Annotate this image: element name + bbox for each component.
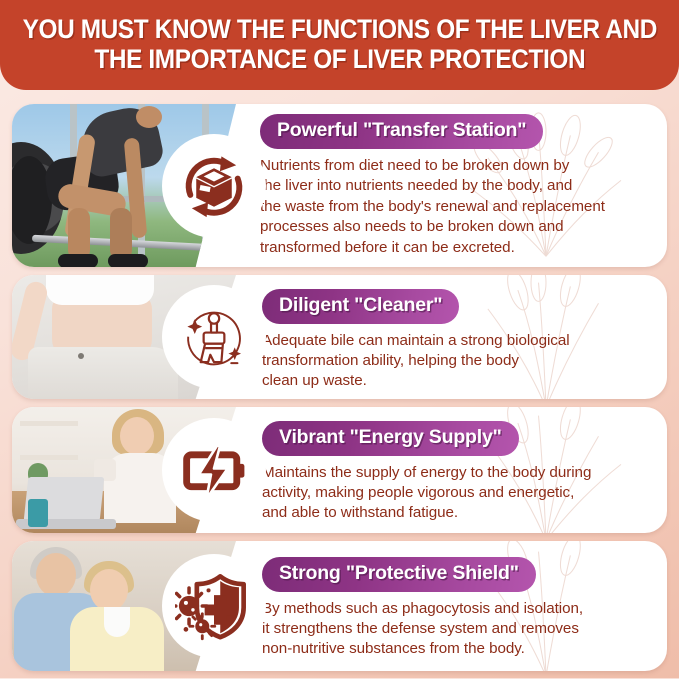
card-content: Diligent "Cleaner" Adequate bile can mai…: [236, 275, 667, 399]
recycle-box-icon: [162, 134, 266, 238]
card-cleaner[interactable]: Diligent "Cleaner" Adequate bile can mai…: [12, 275, 667, 399]
header-title-line-2: THE IMPORTANCE OF LIVER PROTECTION: [94, 44, 585, 74]
shield-cross-germ-icon: [162, 554, 266, 658]
card-body-text: Nutrients from diet need to be broken do…: [260, 156, 647, 259]
card-body-text: Adequate bile can maintain a strong biol…: [262, 331, 647, 392]
card-body-text: Maintains the supply of energy to the bo…: [262, 463, 647, 524]
function-cards-list: Powerful "Transfer Station" Nutrients fr…: [12, 104, 667, 679]
card-title-badge: Strong "Protective Shield": [262, 557, 536, 592]
header-banner: YOU MUST KNOW THE FUNCTIONS OF THE LIVER…: [0, 0, 679, 90]
card-body-text: By methods such as phagocytosis and isol…: [262, 599, 647, 660]
battery-bolt-icon: [162, 418, 266, 522]
card-title-badge: Powerful "Transfer Station": [260, 114, 543, 149]
card-content: Strong "Protective Shield" By methods su…: [236, 541, 667, 671]
card-content: Vibrant "Energy Supply" Maintains the su…: [236, 407, 667, 533]
cleaning-brush-icon: [162, 285, 266, 389]
header-title-line-1: YOU MUST KNOW THE FUNCTIONS OF THE LIVER…: [22, 14, 656, 44]
card-transfer-station[interactable]: Powerful "Transfer Station" Nutrients fr…: [12, 104, 667, 267]
card-protective-shield[interactable]: Strong "Protective Shield" By methods su…: [12, 541, 667, 671]
card-title-badge: Diligent "Cleaner": [262, 289, 459, 324]
card-energy-supply[interactable]: Vibrant "Energy Supply" Maintains the su…: [12, 407, 667, 533]
card-content: Powerful "Transfer Station" Nutrients fr…: [236, 104, 667, 267]
card-title-badge: Vibrant "Energy Supply": [262, 421, 519, 456]
